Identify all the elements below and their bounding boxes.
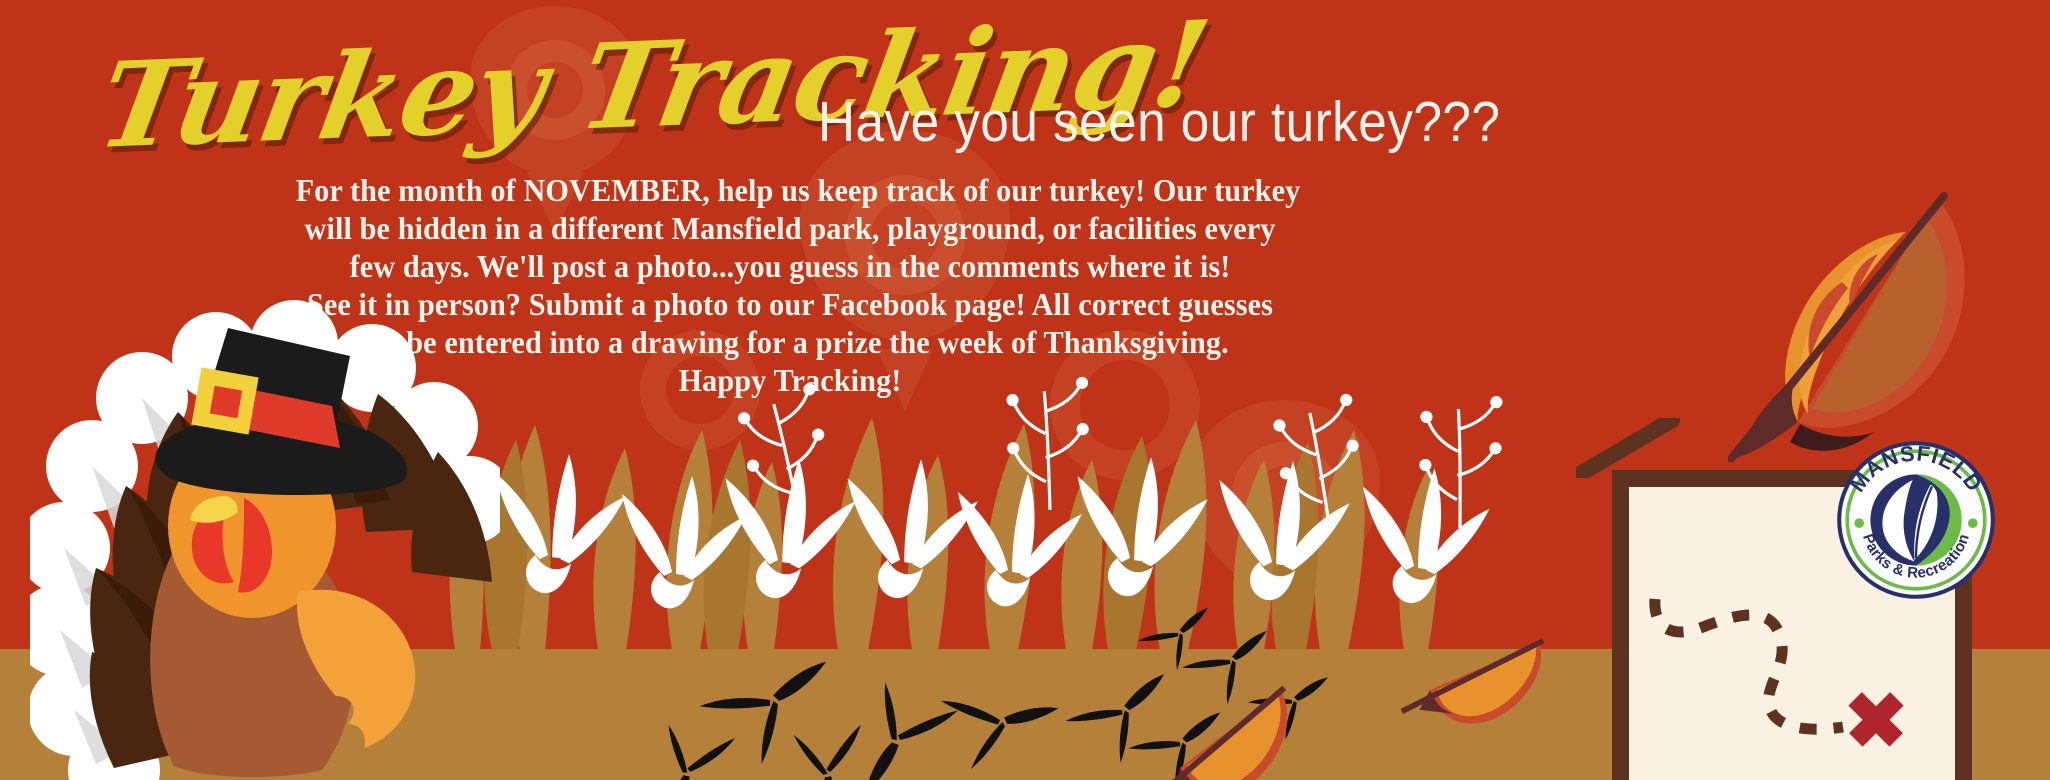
- ground-feather-group: [1156, 598, 1553, 780]
- mansfield-parks-recreation-logo[interactable]: MANSFIELD Parks & Recreation: [1836, 440, 1996, 600]
- turkey-tracking-poster: Turkey Tracking! Have you seen our turke…: [0, 0, 2050, 780]
- sprig-group: [737, 373, 1505, 532]
- dashed-trail-path: [1655, 599, 1843, 729]
- pilgrim-turkey-mascot: [30, 300, 500, 780]
- feather-quill-icon: [1728, 192, 1988, 462]
- x-marks-the-spot: [1848, 692, 1903, 746]
- sign-post: [1576, 418, 1686, 478]
